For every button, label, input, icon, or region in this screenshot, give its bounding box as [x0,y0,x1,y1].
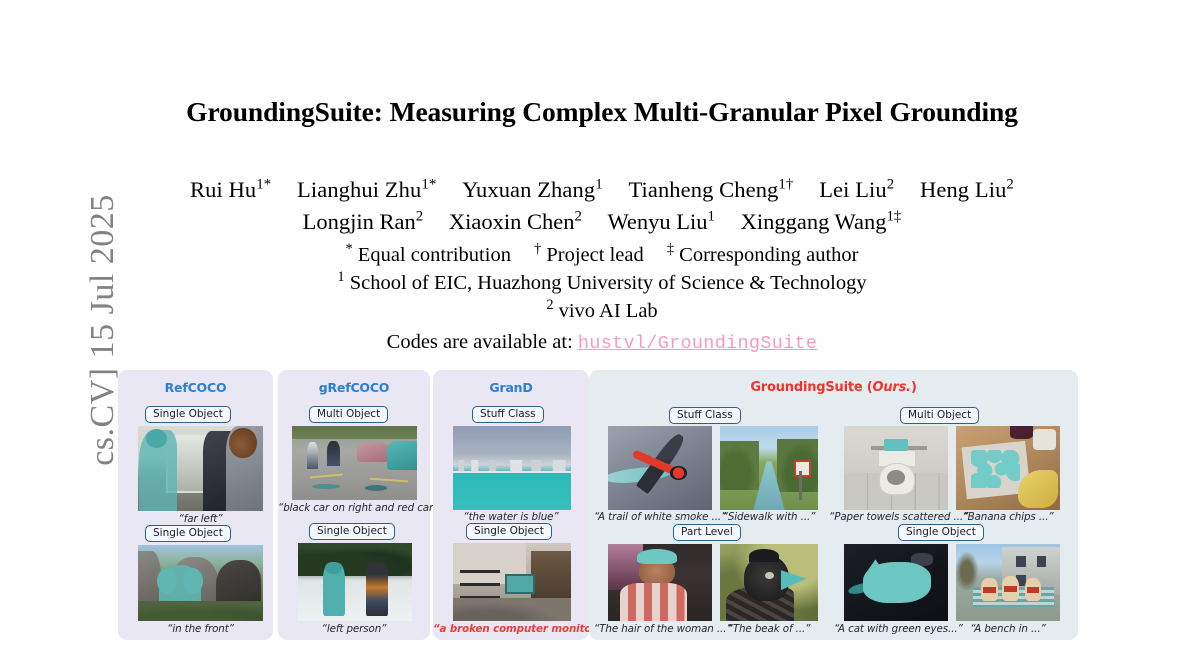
panel-title-refcoco: RefCOCO [118,380,273,395]
author-line-2: Longjin Ran2 Xiaoxin Chen2 Wenyu Liu1 Xi… [96,209,1108,235]
affiliation-1: 1 School of EIC, Huazhong University of … [96,272,1108,295]
example-image-sidewalk [720,426,818,510]
code-repo-link[interactable]: hustvl/GroundingSuite [578,333,817,354]
author: Heng Liu2 [920,177,1014,202]
example-caption: “in the front” [138,623,263,635]
panel-title-groundingsuite: GroundingSuite (Ours.) [589,380,1078,395]
affiliation-2: 2 vivo AI Lab [96,300,1108,323]
example-image-bench-teddies [956,544,1060,621]
example-caption: “The beak of ...” [720,623,818,635]
author: Yuxuan Zhang1 [462,177,603,202]
badge-stuff-class: Stuff Class [669,407,741,424]
badge-single-object: Single Object [145,406,231,423]
example-caption: “Sidewalk with ...” [720,511,818,523]
teaser-figure: RefCOCO Single Object “far left” Single … [118,370,1078,640]
author: Tianheng Cheng1† [628,177,793,202]
example-image-messy-room [453,543,571,621]
example-image-woman-hair [608,544,712,621]
author-note: ‡ Corresponding author [667,244,859,266]
example-caption: “black car on right and red car” [278,502,430,514]
author-note: * Equal contribution [346,244,511,266]
example-image-snow-persons [298,543,412,621]
example-image-elephants [138,545,263,621]
code-prefix-label: Codes are available at: [387,331,573,353]
panel-grefcoco: gRefCOCO Multi Object “black car on righ… [278,370,430,640]
example-image-bird-beak [720,544,818,621]
author: Lei Liu2 [819,177,894,202]
example-caption: “Banana chips ...” [956,511,1060,523]
author: Xiaoxin Chen2 [449,209,582,234]
example-caption: “The hair of the woman ...” [594,623,726,635]
author: Lianghui Zhu1* [297,177,436,202]
badge-stuff-class: Stuff Class [472,406,544,423]
example-image-cat-dark [844,544,948,621]
example-caption: “Paper towels scattered ...” [829,511,963,523]
panel-title-grefcoco: gRefCOCO [278,380,430,395]
panel-grand: GranD Stuff Class “the water is blue” Si… [433,370,589,640]
example-image-wedding [138,426,263,511]
author-notes: * Equal contribution † Project lead ‡ Co… [96,244,1108,267]
badge-part-level: Part Level [673,524,741,541]
author-line-1: Rui Hu1* Lianghui Zhu1* Yuxuan Zhang1 Ti… [96,177,1108,203]
badge-multi-object: Multi Object [309,406,388,423]
panel-refcoco: RefCOCO Single Object “far left” Single … [118,370,273,640]
panel-groundingsuite-ours: GroundingSuite (Ours.) Stuff Class “A tr… [589,370,1078,640]
example-image-toilet [844,426,948,510]
badge-single-object: Single Object [898,524,984,541]
badge-single-object: Single Object [309,523,395,540]
paper-header: GroundingSuite: Measuring Complex Multi-… [96,96,1108,354]
example-caption: “A trail of white smoke ...” [594,511,726,523]
author: Xinggang Wang1‡ [741,209,902,234]
page-title: GroundingSuite: Measuring Complex Multi-… [96,96,1108,128]
code-availability-line: Codes are available at: hustvl/Grounding… [96,331,1108,354]
panel-title-grand: GranD [433,380,589,395]
badge-single-object: Single Object [145,525,231,542]
example-caption: “the water is blue” [433,511,589,523]
example-image-plane-smoke [608,426,712,510]
example-caption: “a broken computer monitor” [433,623,589,635]
example-image-sea-skyline [453,426,571,510]
author: Longjin Ran2 [303,209,424,234]
example-caption: “A cat with green eyes...” [834,623,958,635]
badge-multi-object: Multi Object [900,407,979,424]
example-image-banana-chips [956,426,1060,510]
author: Rui Hu1* [190,177,271,202]
example-image-parking-lot [292,426,417,500]
example-caption: “left person” [278,623,430,635]
badge-single-object: Single Object [466,523,552,540]
author-note: † Project lead [534,244,644,266]
author: Wenyu Liu1 [608,209,715,234]
example-caption: “far left” [138,513,263,525]
example-caption: “A bench in ...” [956,623,1060,635]
